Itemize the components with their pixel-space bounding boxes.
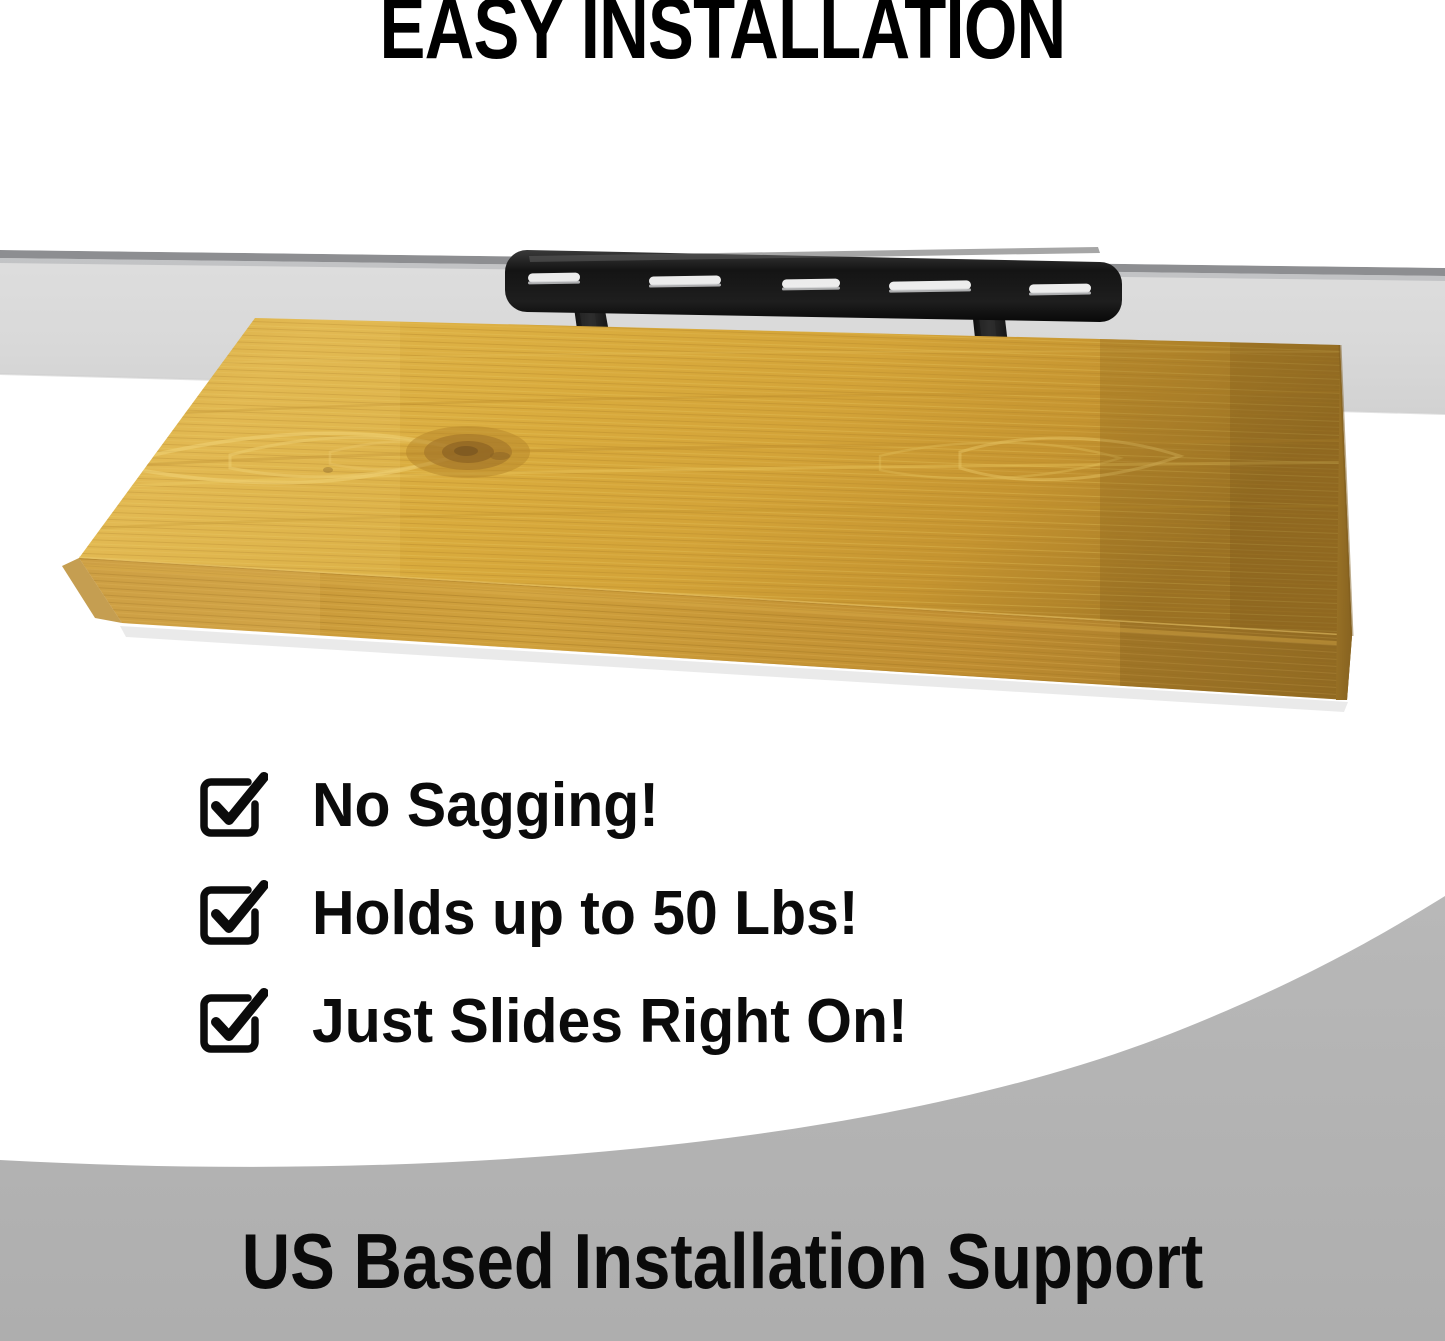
checkbox-checked-icon [196, 770, 268, 842]
footer-caption: US Based Installation Support [101, 1222, 1344, 1300]
checkbox-checked-icon [196, 986, 268, 1058]
list-item: No Sagging! [196, 752, 1096, 860]
list-item-label: Holds up to 50 Lbs! [312, 883, 858, 945]
list-item: Just Slides Right On! [196, 968, 1096, 1076]
checkbox-checked-icon [196, 878, 268, 950]
list-item-label: No Sagging! [312, 775, 659, 837]
product-marketing-image: EASY INSTALLATION No Sagging! Holds up t… [0, 0, 1445, 1341]
hero-illustration [0, 0, 1445, 1341]
page-title: EASY INSTALLATION [145, 0, 1301, 72]
list-item-label: Just Slides Right On! [312, 991, 908, 1053]
feature-list: No Sagging! Holds up to 50 Lbs! Just Sli… [196, 752, 1096, 1076]
list-item: Holds up to 50 Lbs! [196, 860, 1096, 968]
